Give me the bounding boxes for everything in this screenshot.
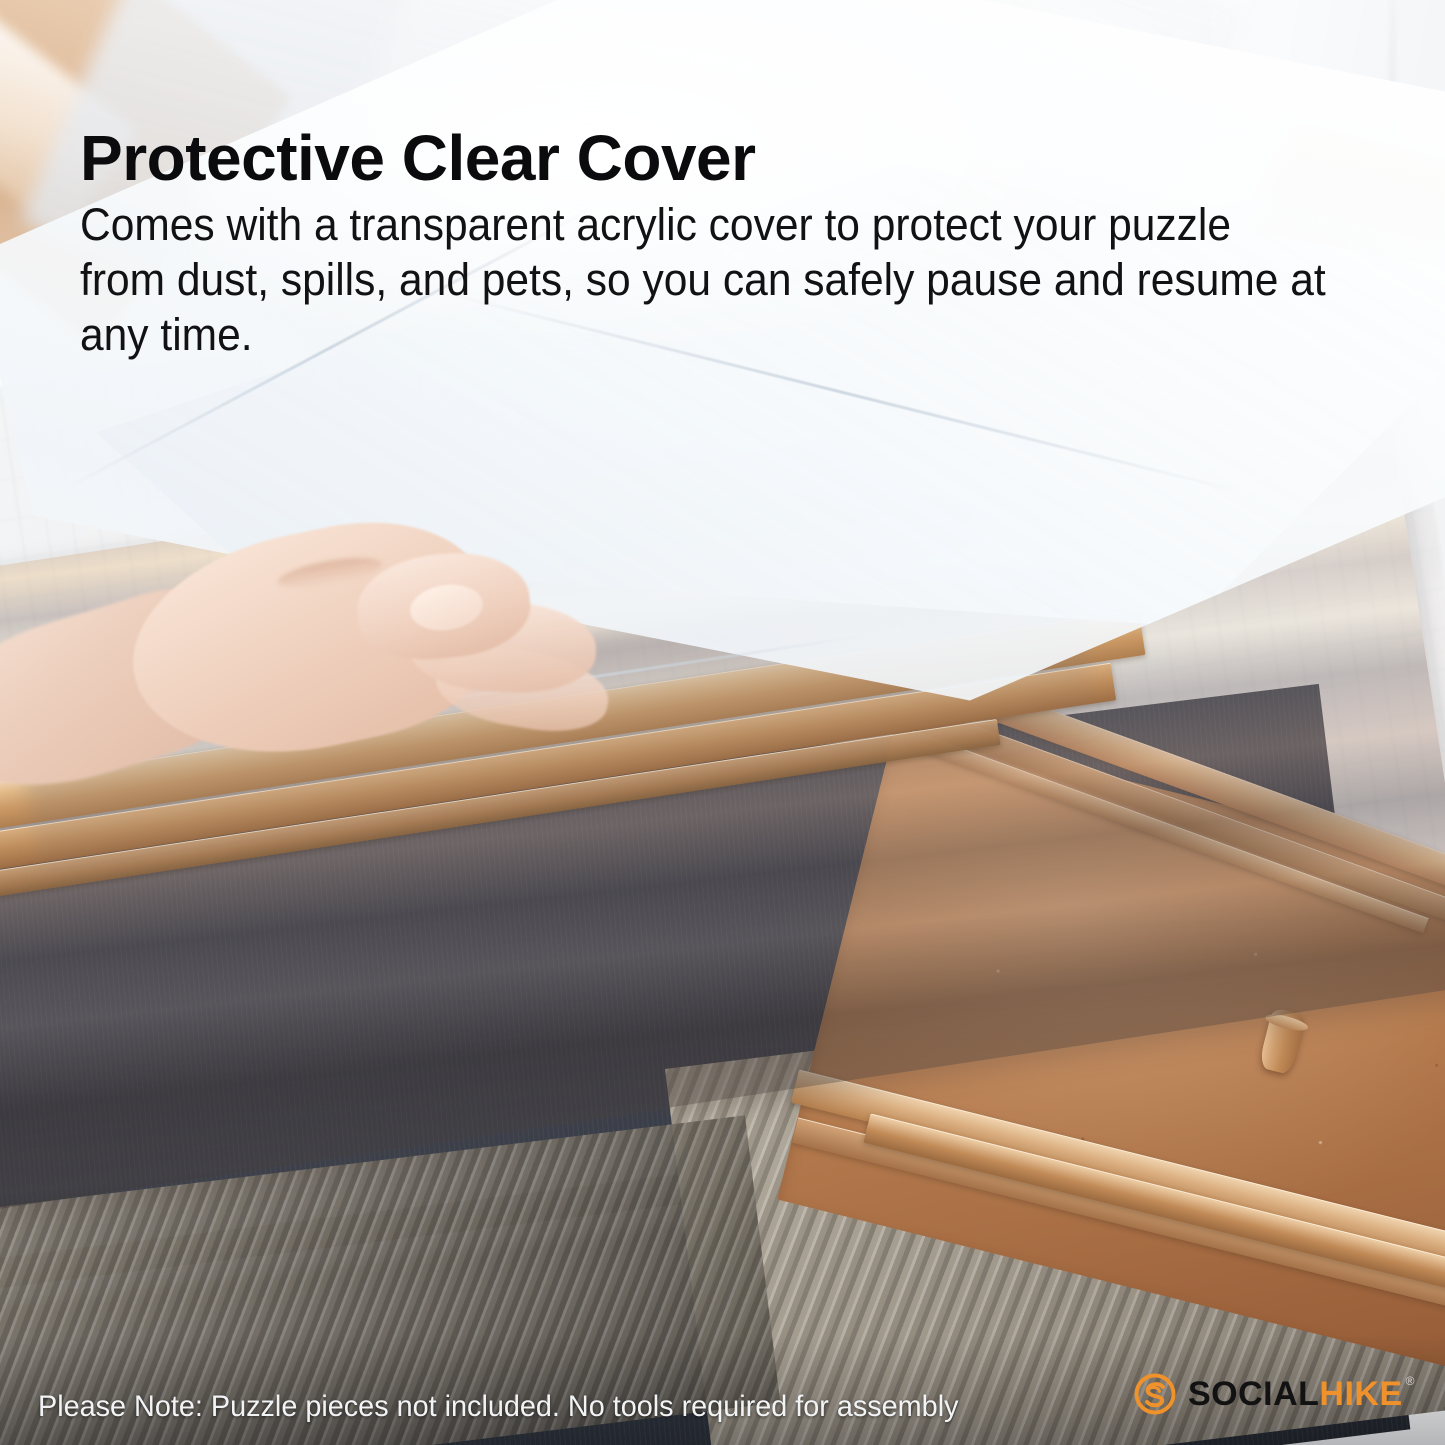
logo-word-hike: HIKE bbox=[1319, 1377, 1402, 1411]
disclaimer-note: Please Note: Puzzle pieces not included.… bbox=[38, 1390, 958, 1423]
feature-description: Comes with a transparent acrylic cover t… bbox=[80, 198, 1327, 363]
socialhike-spiral-icon bbox=[1133, 1372, 1177, 1416]
human-hand bbox=[0, 491, 636, 838]
logo-word-social: SOCIAL bbox=[1188, 1377, 1319, 1411]
registered-trademark-icon: ® bbox=[1406, 1375, 1415, 1387]
logo-wordmark: SOCIAL HIKE ® bbox=[1188, 1377, 1415, 1411]
page-title: Protective Clear Cover bbox=[80, 126, 756, 190]
product-feature-image: Protective Clear Cover Comes with a tran… bbox=[0, 0, 1445, 1445]
brand-logo: SOCIAL HIKE ® bbox=[1133, 1372, 1415, 1416]
